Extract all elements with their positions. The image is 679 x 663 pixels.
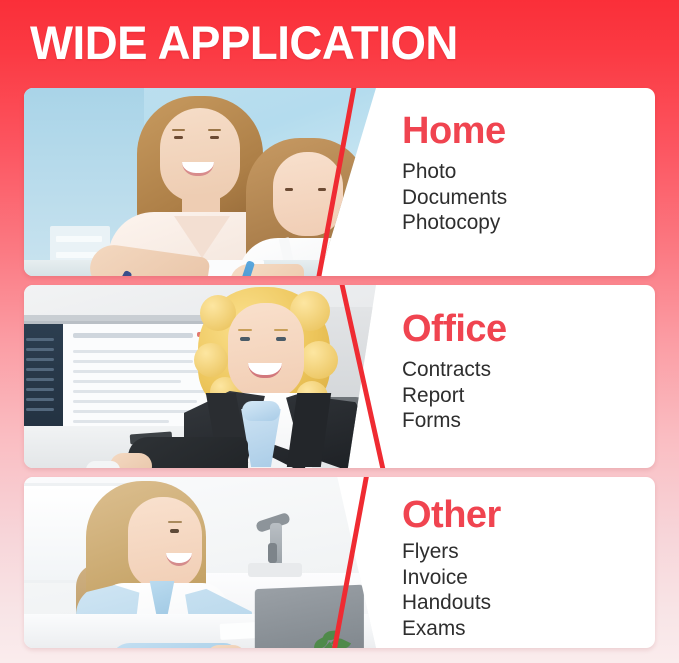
list-item: Photocopy xyxy=(402,210,507,236)
application-card-other: Other Flyers Invoice Handouts Exams xyxy=(24,477,655,648)
text-panel-other: Other Flyers Invoice Handouts Exams xyxy=(380,477,655,648)
list-item: Handouts xyxy=(402,590,491,616)
list-item: Flyers xyxy=(402,539,491,565)
list-item: Report xyxy=(402,383,491,409)
list-item: Photo xyxy=(402,159,507,185)
card-items-other: Flyers Invoice Handouts Exams xyxy=(402,539,491,641)
card-items-home: Photo Documents Photocopy xyxy=(402,159,507,236)
card-heading-home: Home xyxy=(402,112,506,150)
card-heading-other: Other xyxy=(402,496,501,534)
text-panel-home: Home Photo Documents Photocopy xyxy=(380,88,655,276)
card-heading-office: Office xyxy=(402,310,507,348)
list-item: Exams xyxy=(402,616,491,642)
application-card-office: Office Contracts Report Forms xyxy=(24,285,655,468)
photo-other xyxy=(24,477,376,648)
text-panel-office: Office Contracts Report Forms xyxy=(380,285,655,468)
list-item: Contracts xyxy=(402,357,491,383)
header: WIDE APPLICATION xyxy=(0,0,679,88)
photo-office xyxy=(24,285,376,468)
page-title: WIDE APPLICATION xyxy=(30,19,458,66)
list-item: Documents xyxy=(402,185,507,211)
list-item: Forms xyxy=(402,408,491,434)
application-card-home: Home Photo Documents Photocopy xyxy=(24,88,655,276)
card-items-office: Contracts Report Forms xyxy=(402,357,491,434)
list-item: Invoice xyxy=(402,565,491,591)
